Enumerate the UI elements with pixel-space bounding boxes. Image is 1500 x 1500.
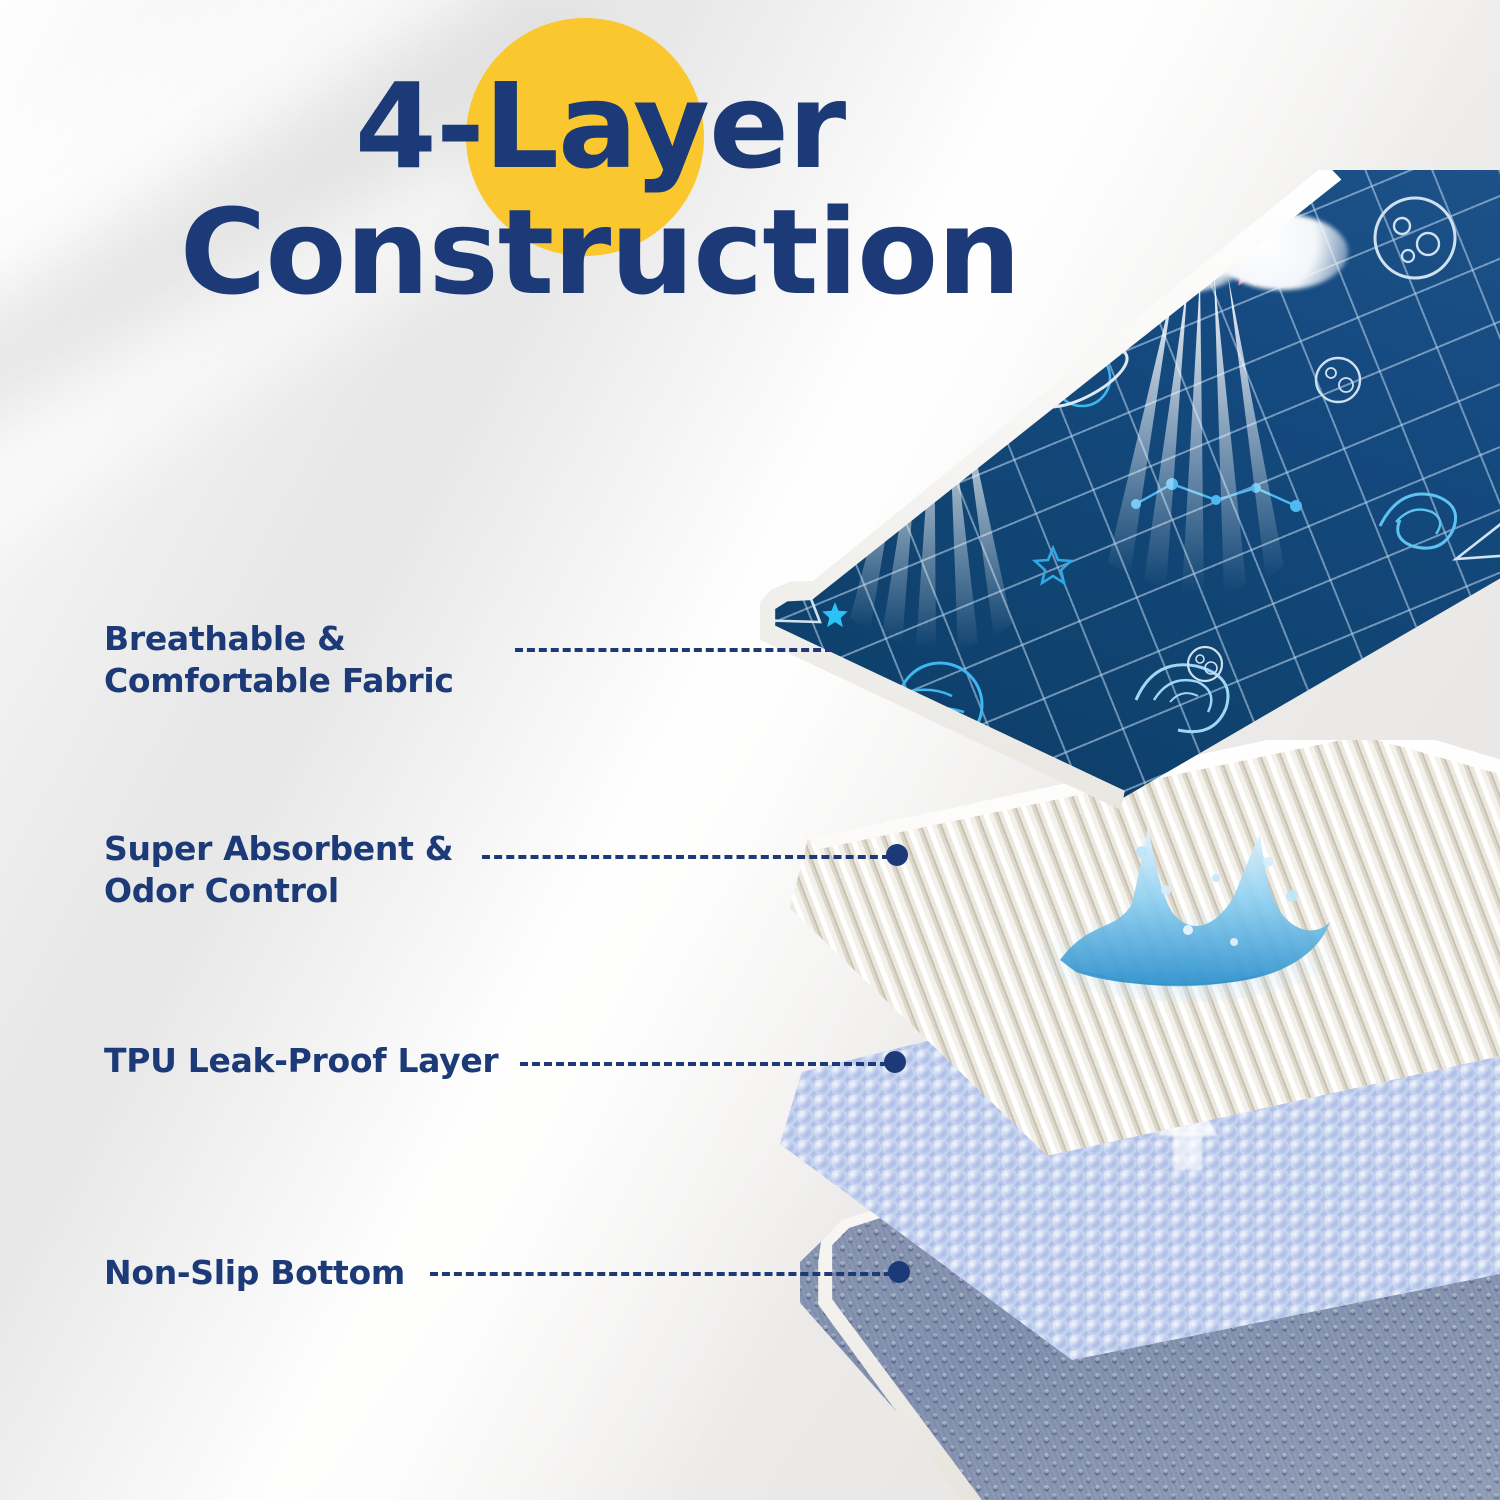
constellation-icon (1130, 470, 1310, 540)
cloud-icon (822, 346, 918, 408)
infographic-canvas: 4-Layer Construction (0, 0, 1500, 1500)
star-icon (1032, 545, 1074, 587)
leader-dot-tpu-leak-proof (884, 1051, 906, 1073)
cloud-icon (844, 320, 992, 394)
moon-icon (1360, 190, 1470, 290)
leader-dot-non-slip-bottom (888, 1261, 910, 1283)
shooting-star-icon (1450, 515, 1500, 575)
light-rays-icon (830, 360, 1060, 660)
leader-line-non-slip-bottom (430, 1272, 892, 1276)
label-non-slip-bottom: Non-Slip Bottom (104, 1252, 405, 1294)
page-title-line-1: 4-Layer (0, 70, 1200, 182)
light-rays-icon (1078, 250, 1338, 610)
quilted-fabric-surface (760, 170, 1500, 810)
leader-line-tpu-leak-proof (520, 1062, 888, 1066)
leader-dot-super-absorbent (886, 844, 908, 866)
leader-line-breathable-fabric (515, 648, 833, 652)
leader-line-super-absorbent (482, 855, 890, 859)
label-breathable-fabric: Breathable & Comfortable Fabric (104, 618, 454, 701)
cloud-icon (884, 296, 1006, 378)
moon-icon (1180, 640, 1230, 688)
star-icon (1086, 290, 1128, 332)
label-tpu-leak-proof: TPU Leak-Proof Layer (104, 1040, 498, 1082)
moon-icon (1306, 350, 1370, 410)
water-splash-icon (1020, 800, 1350, 1015)
fabric-layer (760, 170, 1500, 810)
label-super-absorbent: Super Absorbent & Odor Control (104, 828, 453, 911)
